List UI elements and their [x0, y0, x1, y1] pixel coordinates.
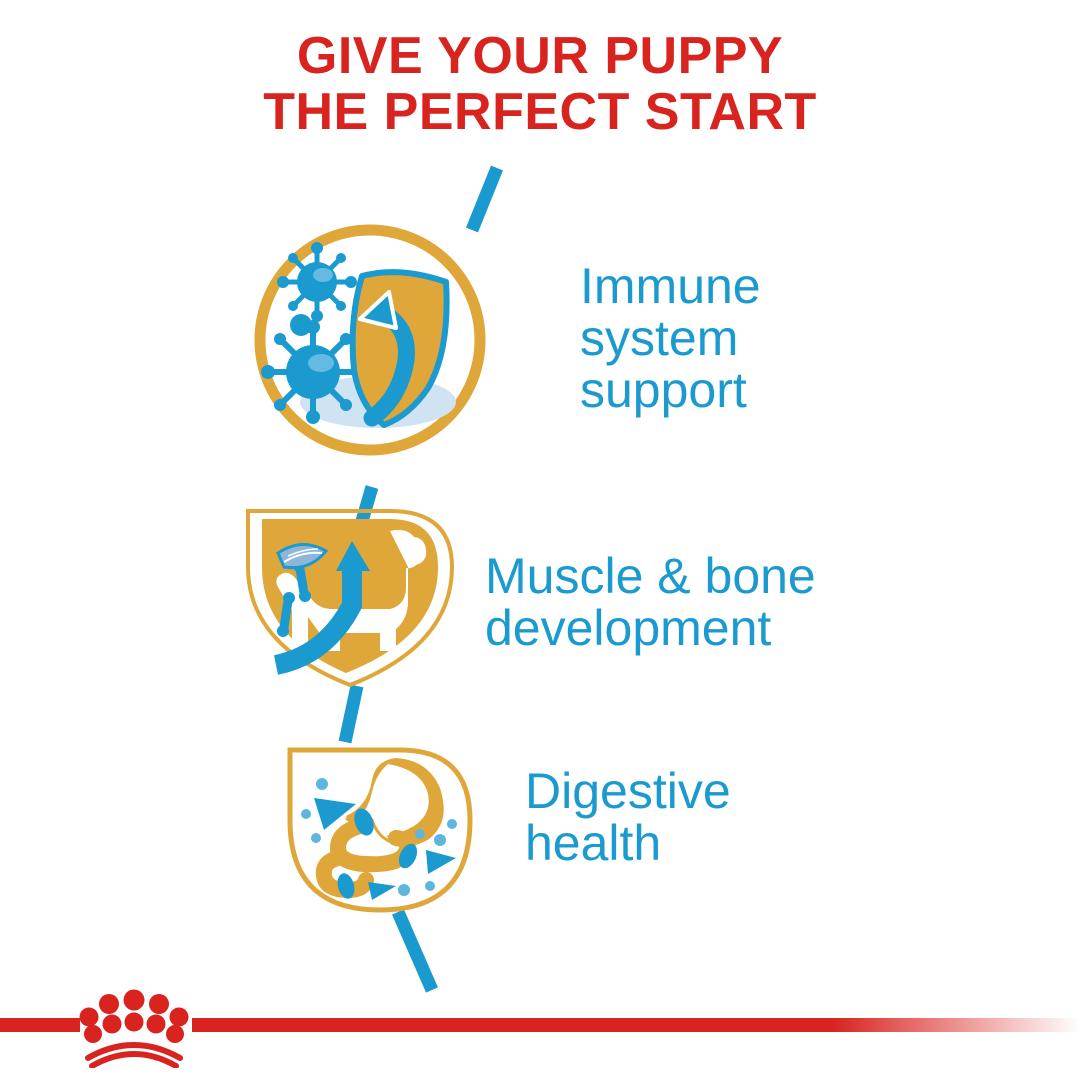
page-title: GIVE YOUR PUPPY THE PERFECT START	[0, 28, 1080, 140]
headline-line-1: GIVE YOUR PUPPY	[0, 28, 1080, 84]
poster-canvas: GIVE YOUR PUPPY THE PERFECT START	[0, 0, 1080, 1080]
royal-canin-crown-logo	[76, 982, 192, 1068]
footer-rule-right	[192, 1018, 1080, 1032]
dog-muscle-bone-icon	[240, 505, 460, 690]
footer-rule-left	[0, 1018, 80, 1032]
feature-label-digestive: Digestive health	[525, 765, 955, 869]
feature-label-immune: Immune system support	[580, 260, 1010, 416]
immune-shield-virus-icon	[250, 220, 490, 460]
headline-line-2: THE PERFECT START	[0, 84, 1080, 140]
footer	[0, 990, 1080, 1080]
stomach-intestine-icon	[280, 740, 480, 920]
feature-label-muscle: Muscle & bone development	[485, 550, 1005, 654]
feature-row-digestive: Digestive health	[280, 740, 1020, 925]
feature-row-immune: Immune system support	[250, 220, 1010, 470]
feature-row-muscle: Muscle & bone development	[240, 505, 1020, 695]
